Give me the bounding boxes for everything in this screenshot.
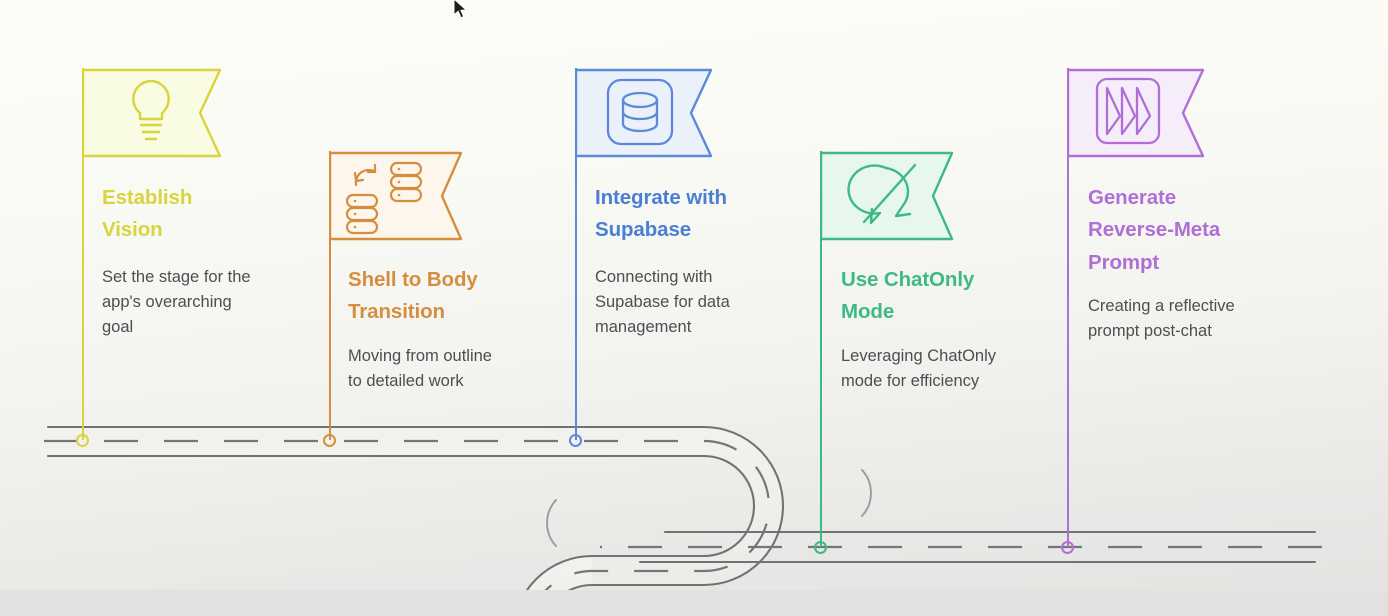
milestone-title: Integrate with Supabase [595,182,810,247]
milestone-flag[interactable] [1067,68,1207,158]
mouse-cursor-icon [452,0,470,27]
milestone-description: Creating a reflective prompt post-chat [1088,294,1293,344]
milestone-description: Leveraging ChatOnly mode for efficiency [841,344,1056,394]
milestone-marker[interactable] [814,541,827,554]
milestone-description: Connecting with Supabase for data manage… [595,265,795,340]
milestone-flag[interactable] [820,151,956,241]
milestone-description: Set the stage for the app's overarching … [102,265,307,340]
milestone-title: Shell to Body Transition [348,264,558,329]
milestone-title: Generate Reverse-Meta Prompt [1088,182,1303,279]
milestone-flag[interactable] [575,68,715,158]
milestone-marker[interactable] [569,434,582,447]
milestone-marker[interactable] [323,434,336,447]
milestone-flag[interactable] [329,151,465,241]
milestone-marker[interactable] [76,434,89,447]
milestone-marker[interactable] [1061,541,1074,554]
milestone-title: Use ChatOnly Mode [841,264,1056,329]
roadmap-canvas: Establish Vision Set the stage for the a… [0,0,1388,616]
milestone-title: Establish Vision [102,182,302,247]
milestone-description: Moving from outline to detailed work [348,344,558,394]
milestone-flag[interactable] [82,68,224,158]
